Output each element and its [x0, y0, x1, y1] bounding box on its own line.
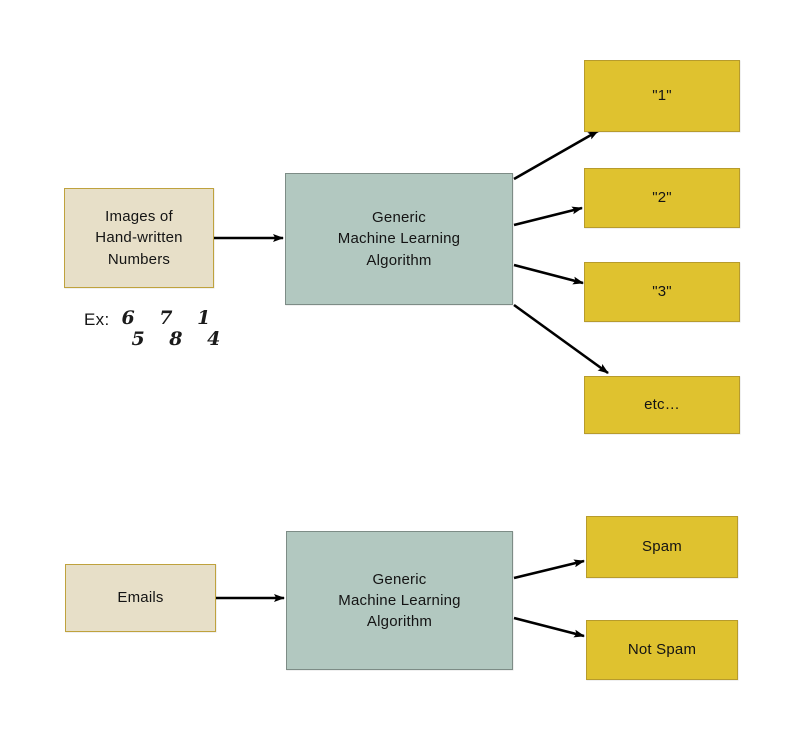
node-label-line: Emails	[117, 587, 163, 608]
node-generic-ml-algorithm-emails[interactable]: Generic Machine Learning Algorithm	[286, 531, 513, 670]
node-output-not-spam[interactable]: Not Spam	[586, 620, 738, 680]
handwritten-digit-row: 6 7 1	[121, 308, 229, 329]
node-output-spam[interactable]: Spam	[586, 516, 738, 578]
handwritten-digit-row: 5 8 4	[131, 329, 229, 350]
node-label-group: Generic Machine Learning Algorithm	[287, 569, 512, 633]
node-images-of-handwritten-numbers[interactable]: Images of Hand-written Numbers	[64, 188, 214, 288]
node-label-line: Algorithm	[292, 250, 506, 271]
node-output-etc[interactable]: etc…	[584, 376, 740, 434]
example-label: Ex:	[84, 308, 109, 330]
node-label-line: Machine Learning	[293, 590, 506, 611]
node-label-line: Numbers	[71, 249, 207, 270]
node-label-line: Hand-written	[71, 227, 207, 248]
node-label-line: Machine Learning	[292, 228, 506, 249]
handwritten-digits: 6 7 1 5 8 4	[121, 308, 229, 351]
arrow-algorithm-to-output-3	[514, 265, 583, 283]
node-label-line: Spam	[642, 536, 682, 557]
arrow-algorithm-to-spam	[514, 561, 584, 578]
arrow-algorithm-to-not-spam	[514, 618, 584, 636]
node-output-one[interactable]: "1"	[584, 60, 740, 132]
node-label-group: Generic Machine Learning Algorithm	[286, 207, 512, 271]
node-generic-ml-algorithm-digits[interactable]: Generic Machine Learning Algorithm	[285, 173, 513, 305]
node-output-two[interactable]: "2"	[584, 168, 740, 228]
node-label-line: "3"	[652, 281, 672, 302]
node-label-group: Images of Hand-written Numbers	[65, 206, 213, 270]
node-emails[interactable]: Emails	[65, 564, 216, 632]
diagram-canvas: Images of Hand-written Numbers Ex: 6 7 1…	[0, 0, 800, 743]
handwritten-digits-annotation: Ex: 6 7 1 5 8 4	[84, 308, 229, 351]
node-output-three[interactable]: "3"	[584, 262, 740, 322]
node-label-line: Images of	[71, 206, 207, 227]
node-label-line: "2"	[652, 187, 672, 208]
arrow-algorithm-to-output-2	[514, 208, 582, 225]
node-label-line: etc…	[644, 394, 680, 415]
node-label-line: Generic	[293, 569, 506, 590]
node-label-line: Not Spam	[628, 639, 696, 660]
node-label-line: Algorithm	[293, 611, 506, 632]
node-label-line: "1"	[652, 85, 672, 106]
node-label-line: Generic	[292, 207, 506, 228]
